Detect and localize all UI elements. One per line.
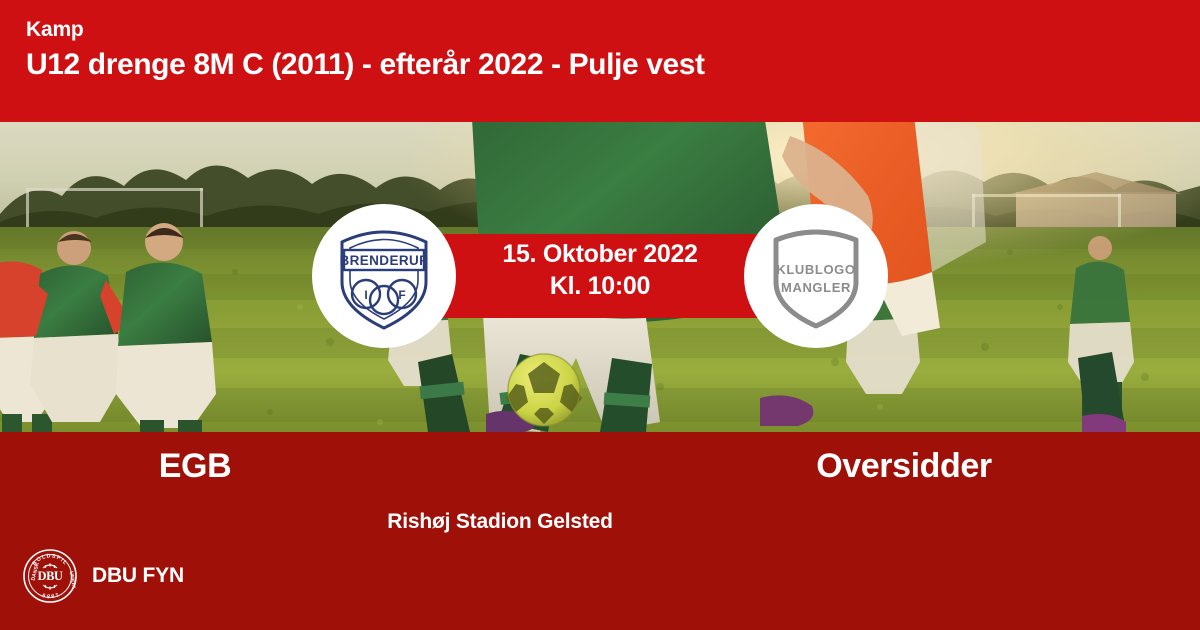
away-logo-line1: KLUBLOGO — [776, 262, 855, 277]
page-title: U12 drenge 8M C (2011) - efterår 2022 - … — [26, 48, 1200, 83]
dbu-brand-label: DBU FYN — [92, 564, 184, 588]
match-poster: Kamp U12 drenge 8M C (2011) - efterår 20… — [0, 0, 1200, 630]
header-eyebrow: Kamp — [26, 18, 1200, 41]
dbu-seal-icon: BOLDSPIL 1889 DANSK UNION DBU — [22, 548, 78, 604]
home-crest-letter-3: F — [398, 288, 405, 302]
poster-footer: EGB Oversidder Rishøj Stadion Gelsted BO… — [0, 432, 1200, 630]
home-crest-banner-text: BRENDERUP — [339, 253, 428, 268]
venue-name: Rishøj Stadion Gelsted — [0, 510, 1200, 534]
home-team-name: EGB — [0, 447, 600, 486]
dbu-brand[interactable]: BOLDSPIL 1889 DANSK UNION DBU DBU FYN — [22, 548, 184, 604]
match-datetime: 15. Oktober 2022 Kl. 10:00 — [455, 238, 745, 302]
home-crest-letter-1: I — [364, 288, 367, 302]
poster-header: Kamp U12 drenge 8M C (2011) - efterår 20… — [0, 0, 1200, 122]
home-club-logo[interactable]: BRENDERUP I F — [312, 204, 456, 348]
team-names-row: EGB Oversidder — [0, 447, 1200, 486]
away-club-logo-placeholder[interactable]: KLUBLOGO MANGLER — [744, 204, 888, 348]
seal-monogram: DBU — [38, 569, 63, 583]
away-logo-line2: MANGLER — [781, 280, 851, 295]
match-time: Kl. 10:00 — [455, 270, 745, 302]
placeholder-shield-icon — [776, 232, 856, 326]
away-team-name: Oversidder — [600, 447, 1200, 486]
match-date: 15. Oktober 2022 — [455, 238, 745, 270]
